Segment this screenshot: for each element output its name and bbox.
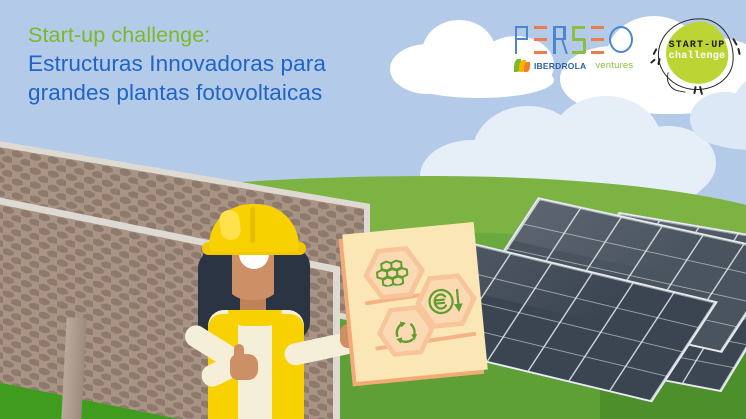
euro-cost-down-icon [425,283,468,319]
engineer-character [172,198,362,419]
held-presentation-board [342,222,488,382]
perseo-letter-e2 [590,26,607,54]
title-line-challenge: Start-up challenge: [28,22,398,49]
poster-canvas: Start-up challenge: Estructuras Innovado… [0,0,746,419]
badge-subtitle: challenge [664,51,730,63]
fist-thumbs-up-icon [230,354,258,380]
perseo-letter-p [514,26,531,54]
iberdrola-leaf-icon [514,59,530,72]
perseo-letter-o [609,26,634,54]
title-line-main-1: Estructuras Innovadoras para [28,49,398,78]
badge-text-group: START-UP challenge [664,40,730,63]
perseo-logo: IBERDROLA ventures [514,26,634,84]
badge-spark-1 [652,48,657,55]
safety-vest-right [272,314,304,419]
startup-challenge-badge: START-UP challenge [650,14,742,98]
molecular-structure-icon [374,258,414,288]
page-title: Start-up challenge: Estructuras Innovado… [28,22,398,107]
recycle-icon [388,314,423,349]
perseo-letter-e1 [533,26,550,54]
title-line-main-2: grandes plantas fotovoltaicas [28,78,398,107]
safety-vest-collar [228,310,282,326]
perseo-letter-r [552,26,569,54]
badge-title: START-UP [664,40,730,51]
badge-spark-3 [650,58,656,63]
iberdrola-wordmark: IBERDROLA [534,61,586,71]
perseo-wordmark [514,26,634,56]
helmet-ridge [250,207,255,243]
iberdrola-ventures-lockup: IBERDROLA ventures [514,59,633,72]
badge-spark-5 [737,48,740,55]
ventures-wordmark: ventures [595,60,633,71]
badge-spark-4 [732,38,737,46]
perseo-letter-s [571,26,588,54]
badge-speech-tail [665,72,689,92]
